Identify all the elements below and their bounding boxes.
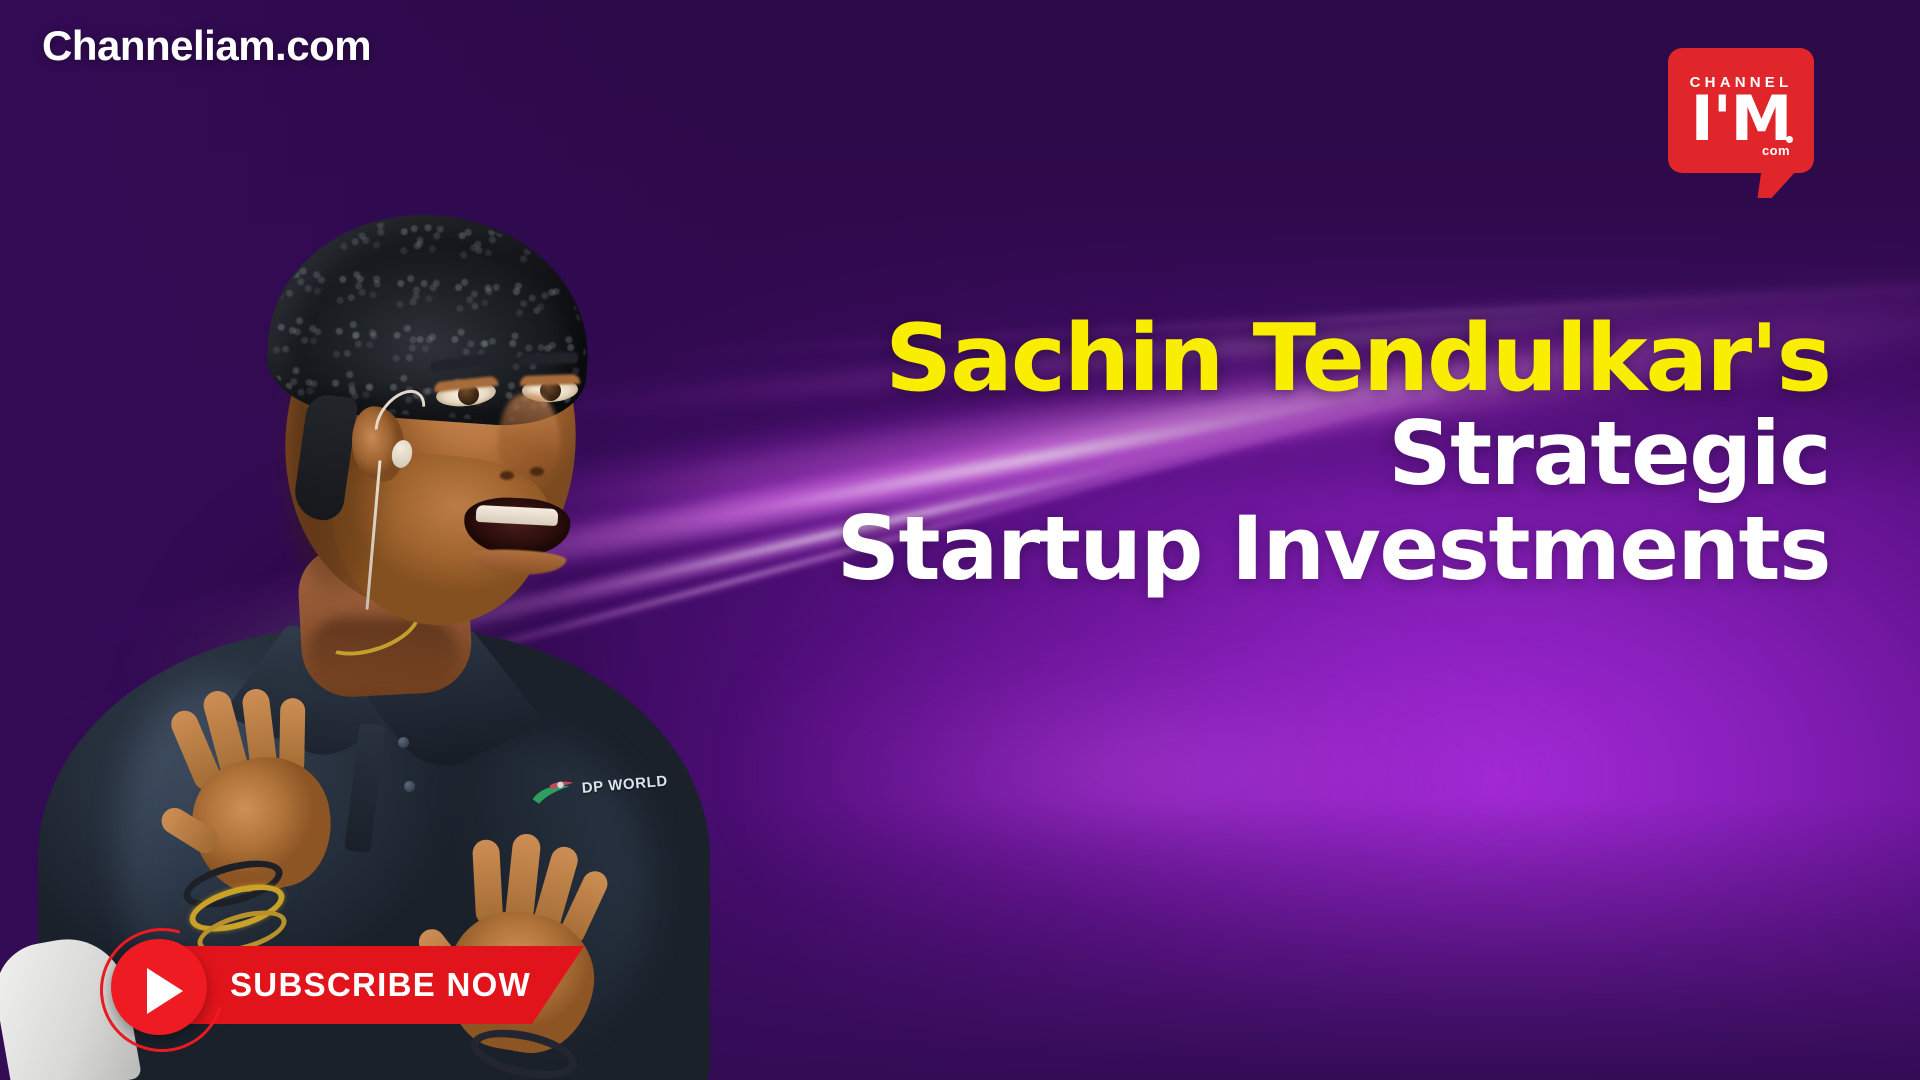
thumbnail-canvas: Channeliam.com CHANNEL I'M com DP WORLD — [0, 0, 1920, 1080]
dp-world-swoosh-icon — [529, 778, 579, 808]
headline-block: Sachin Tendulkar's Strategic Startup Inv… — [760, 310, 1830, 596]
site-name-watermark: Channeliam.com — [42, 22, 371, 70]
channel-im-logo[interactable]: CHANNEL I'M com — [1668, 48, 1814, 196]
headline-line-3: Startup Investments — [760, 501, 1830, 596]
subscribe-cta[interactable]: SUBSCRIBE NOW — [100, 928, 570, 1046]
nostril-right — [530, 467, 544, 476]
subscribe-label: SUBSCRIBE NOW — [230, 966, 531, 1004]
shirt-button-top — [398, 737, 409, 748]
nostril-left — [500, 471, 514, 480]
play-triangle-icon — [147, 968, 183, 1014]
nose — [498, 394, 560, 480]
shirt-sponsor-text: DP WORLD — [581, 773, 668, 797]
logo-dot — [1786, 136, 1793, 143]
headline-line-1: Sachin Tendulkar's — [760, 310, 1830, 406]
shirt-button-bottom — [404, 781, 415, 792]
headline-line-2: Strategic — [760, 406, 1830, 501]
logo-com-text: com — [1762, 143, 1790, 158]
eyelid-right — [520, 374, 580, 386]
